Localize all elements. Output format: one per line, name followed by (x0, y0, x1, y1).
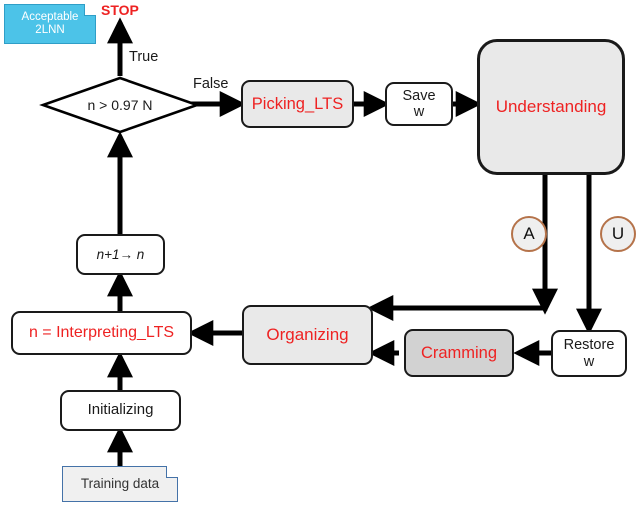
note-training-data: Training data (62, 466, 178, 502)
label-stop: STOP (101, 2, 139, 18)
note-acceptable-line2: 2LNN (22, 24, 79, 37)
node-cramming: Cramming (404, 329, 514, 377)
fold-corner-icon (166, 466, 178, 478)
node-restore-w: Restore w (551, 330, 627, 377)
node-save-line1: Save (402, 88, 435, 104)
node-initializing: Initializing (60, 390, 181, 431)
node-save-w: Save w (385, 82, 453, 126)
flowchart-canvas: Acceptable 2LNN STOP True False n > 0.97… (0, 0, 640, 506)
decision-label: n > 0.97 N (41, 76, 199, 134)
connector-u: U (600, 216, 636, 252)
connector-a: A (511, 216, 547, 252)
node-increment-n: n+1→ n (76, 234, 165, 275)
note-training-data-label: Training data (81, 476, 159, 491)
note-acceptable-2lnn: Acceptable 2LNN (4, 4, 96, 44)
node-understanding: Understanding (477, 39, 625, 175)
label-false: False (193, 76, 228, 92)
node-organizing: Organizing (242, 305, 373, 365)
decision-diamond: n > 0.97 N (41, 76, 199, 134)
node-restore-line2: w (564, 354, 615, 370)
node-restore-line1: Restore (564, 337, 615, 353)
label-true: True (129, 49, 158, 65)
node-save-line2: w (402, 104, 435, 120)
node-picking-lts: Picking_LTS (241, 80, 354, 128)
note-acceptable-line1: Acceptable (22, 11, 79, 24)
node-increment-label: n+1→ n (97, 247, 145, 262)
node-interpreting-lts: n = Interpreting_LTS (11, 311, 192, 355)
fold-corner-icon (84, 4, 96, 16)
